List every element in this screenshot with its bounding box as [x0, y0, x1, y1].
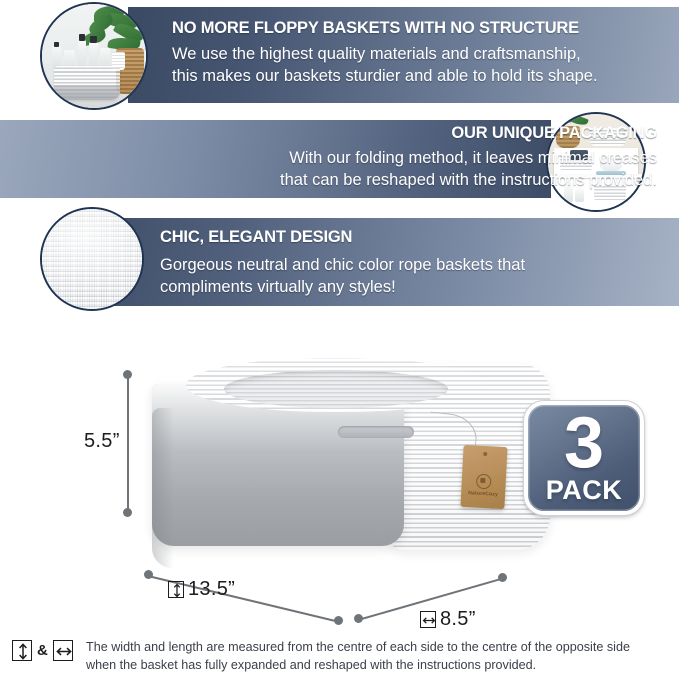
pack-count-label: PACK	[528, 475, 640, 506]
length-dimension-value: 13.5”	[188, 578, 235, 601]
banner-design-body: Gorgeous neutral and chic color rope bas…	[160, 255, 525, 299]
length-dimension-endpoint-left	[144, 570, 153, 579]
banner-packaging-body: With our folding method, it leaves minim…	[280, 148, 657, 192]
footnote-line1: The width and length are measured from t…	[86, 639, 630, 657]
banner-packaging-heading: OUR UNIQUE PACKAGING	[451, 124, 657, 143]
horizontal-double-arrow-icon	[53, 640, 73, 661]
banner-structure-body-line1: We use the highest quality materials and…	[172, 44, 598, 66]
rope-texture-photo	[40, 207, 144, 311]
height-dimension-label: 5.5”	[84, 430, 120, 453]
vertical-double-arrow-icon	[168, 581, 184, 598]
footnote-line2: when the basket has fully expanded and r…	[86, 657, 630, 675]
hang-tag: NatureCozy	[460, 445, 507, 509]
pack-count-badge: 3 PACK	[524, 401, 644, 515]
vertical-double-arrow-icon	[12, 640, 32, 661]
height-dimension-value: 5.5”	[84, 430, 120, 453]
basket-handle-cutout	[338, 426, 414, 438]
footnote-text: The width and length are measured from t…	[86, 639, 630, 675]
footnote-icons: &	[12, 640, 73, 661]
brand-logo-icon	[476, 474, 492, 490]
measurement-footnote: & The width and length are measured from…	[0, 636, 679, 673]
footnote-separator: &	[37, 642, 48, 659]
height-dimension-endpoint-bottom	[123, 508, 132, 517]
banner-design-heading: CHIC, ELEGANT DESIGN	[160, 228, 352, 247]
width-dimension-endpoint-left	[354, 614, 363, 623]
height-dimension-line	[127, 375, 129, 513]
banner-structure-body-line2: this makes our baskets sturdier and able…	[172, 66, 598, 88]
banner-structure-heading: NO MORE FLOPPY BASKETS WITH NO STRUCTURE	[172, 19, 579, 38]
hang-tag-brand-label: NatureCozy	[461, 490, 505, 498]
banner-packaging-body-line1: With our folding method, it leaves minim…	[280, 148, 657, 170]
basket-interior	[224, 370, 448, 408]
width-dimension-label: 8.5”	[420, 608, 476, 631]
banner-design-body-line1: Gorgeous neutral and chic color rope bas…	[160, 255, 525, 277]
horizontal-double-arrow-icon	[420, 611, 436, 628]
width-dimension-endpoint-right	[498, 573, 507, 582]
length-dimension-label: 13.5”	[168, 578, 235, 601]
banner-design-body-line2: compliments virtually any styles!	[160, 277, 525, 299]
pack-count-number: 3	[528, 407, 640, 479]
height-dimension-endpoint-top	[123, 370, 132, 379]
width-dimension-value: 8.5”	[440, 608, 476, 631]
banner-structure-body: We use the highest quality materials and…	[172, 44, 598, 88]
length-dimension-endpoint-right	[334, 616, 343, 625]
bathroom-basket-photo	[40, 2, 148, 110]
banner-packaging-body-line2: that can be reshaped with the instructio…	[280, 170, 657, 192]
